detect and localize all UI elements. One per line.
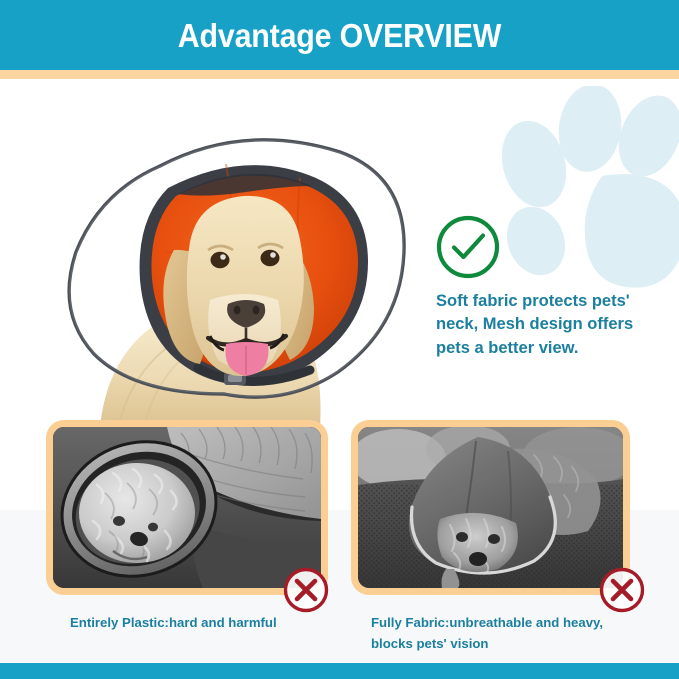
card-fully-fabric [351, 420, 630, 595]
page-title: Advantage OVERVIEW [27, 17, 652, 55]
caption-fully-fabric: Fully Fabric:unbreathable and heavy, blo… [371, 612, 641, 655]
check-circle-icon [434, 213, 502, 281]
benefit-description: Soft fabric protects pets' neck, Mesh de… [436, 290, 651, 360]
advantage-overview-page: Advantage OVERVIEW [0, 0, 679, 679]
hero-product-photo [48, 82, 418, 427]
x-circle-icon-entirely-plastic [282, 566, 330, 614]
card-image-fully-fabric [358, 427, 623, 588]
header-accent-stripe [0, 70, 679, 79]
x-circle-icon-fully-fabric [598, 566, 646, 614]
caption-entirely-plastic: Entirely Plastic:hard and harmful [70, 612, 330, 633]
card-image-entirely-plastic [53, 427, 321, 588]
footer-band [0, 663, 679, 679]
paw-print-icon [490, 86, 679, 301]
